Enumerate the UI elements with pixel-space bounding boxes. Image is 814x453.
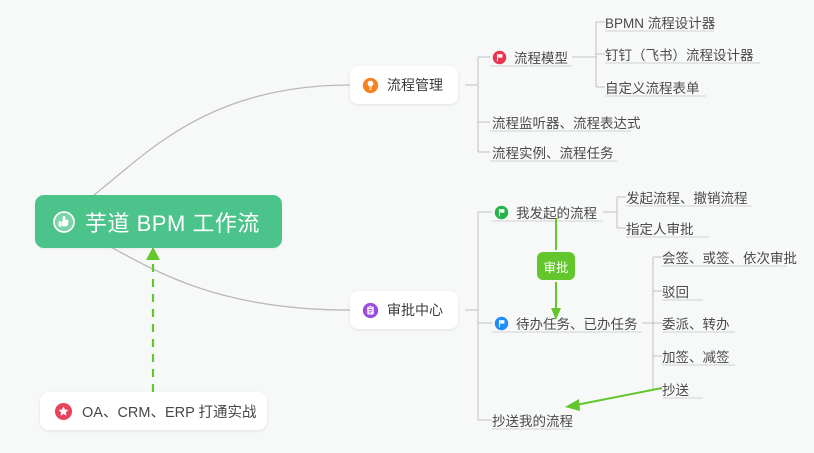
flag-icon	[494, 316, 509, 331]
node-process-instance-label: 流程实例、流程任务	[492, 142, 614, 162]
star-icon	[54, 402, 73, 421]
node-todo-done-tasks-label: 待办任务、已办任务	[516, 313, 638, 333]
flag-icon	[492, 50, 507, 65]
bottom-dashed-arrow	[146, 247, 160, 392]
node-my-initiated[interactable]: 我发起的流程	[494, 202, 597, 227]
bottom-integration-label: OA、CRM、ERP 打通实战	[82, 401, 257, 422]
node-dingtalk-designer[interactable]: 钉钉（飞书）流程设计器	[605, 44, 754, 69]
node-custom-form-label: 自定义流程表单	[605, 77, 700, 97]
approval-badge[interactable]: 审批	[537, 252, 575, 280]
node-custom-form[interactable]: 自定义流程表单	[605, 77, 700, 102]
node-process-listener-label: 流程监听器、流程表达式	[492, 112, 641, 132]
node-process-listener[interactable]: 流程监听器、流程表达式	[492, 112, 641, 137]
lightbulb-icon	[362, 77, 379, 94]
branch-approval-center[interactable]: 审批中心	[350, 291, 458, 329]
node-cc-to-me[interactable]: 抄送我的流程	[492, 410, 573, 435]
node-todo-done-tasks[interactable]: 待办任务、已办任务	[494, 313, 638, 338]
root-node[interactable]: 芋道 BPM 工作流	[35, 195, 282, 248]
node-assignee-approval[interactable]: 指定人审批	[626, 218, 694, 243]
root-label: 芋道 BPM 工作流	[85, 206, 260, 238]
node-cc-to-me-label: 抄送我的流程	[492, 410, 573, 430]
node-countersign[interactable]: 会签、或签、依次审批	[662, 247, 797, 272]
node-reject[interactable]: 驳回	[662, 281, 689, 306]
node-cc[interactable]: 抄送	[662, 379, 689, 404]
branch-process-management-label: 流程管理	[387, 75, 443, 95]
node-delegate-transfer[interactable]: 委派、转办	[662, 313, 730, 338]
node-cc-label: 抄送	[662, 379, 689, 399]
node-delegate-transfer-label: 委派、转办	[662, 313, 730, 333]
node-dingtalk-designer-label: 钉钉（飞书）流程设计器	[605, 44, 754, 64]
clipboard-icon	[362, 302, 379, 319]
node-bpmn-designer[interactable]: BPMN 流程设计器	[605, 12, 715, 37]
node-process-model-label: 流程模型	[514, 47, 568, 67]
flag-icon	[494, 205, 509, 220]
node-add-remove-sign-label: 加签、减签	[662, 346, 730, 366]
node-add-remove-sign[interactable]: 加签、减签	[662, 346, 730, 371]
branch-process-management[interactable]: 流程管理	[350, 66, 458, 104]
thumbs-up-icon	[52, 210, 76, 234]
node-bpmn-designer-label: BPMN 流程设计器	[605, 12, 715, 32]
node-assignee-approval-label: 指定人审批	[626, 218, 694, 238]
bottom-integration-card[interactable]: OA、CRM、ERP 打通实战	[40, 392, 267, 430]
approval-badge-label: 审批	[543, 257, 568, 276]
node-my-initiated-label: 我发起的流程	[516, 202, 597, 222]
node-countersign-label: 会签、或签、依次审批	[662, 247, 797, 267]
mindmap-canvas: 芋道 BPM 工作流 流程管理 流程模型 BPMN 流程设计器 钉钉（飞书）流程	[0, 0, 814, 453]
cc-flow-arrow	[565, 388, 662, 411]
node-process-model[interactable]: 流程模型	[492, 47, 568, 72]
node-process-instance[interactable]: 流程实例、流程任务	[492, 142, 614, 167]
node-start-cancel-process[interactable]: 发起流程、撤销流程	[626, 187, 748, 212]
node-start-cancel-process-label: 发起流程、撤销流程	[626, 187, 748, 207]
branch-approval-center-label: 审批中心	[387, 300, 443, 320]
node-reject-label: 驳回	[662, 281, 689, 301]
